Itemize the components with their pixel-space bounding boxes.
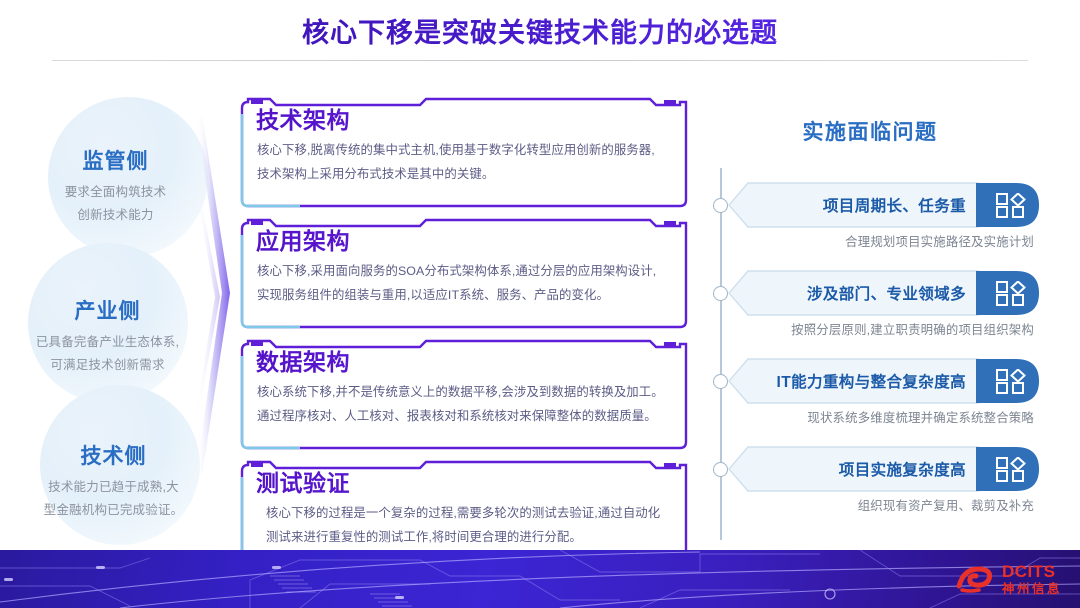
- grid-diamond-icon: [996, 457, 1030, 482]
- card-body: 核心下移,采用面向服务的SOA分布式架构体系,通过分层的应用架构设计, 实现服务…: [257, 259, 678, 307]
- timeline-pill[interactable]: 项目周期长、任务重: [728, 182, 1040, 228]
- right-panel-title: 实施面临问题: [700, 116, 1040, 146]
- left-item-desc-line: 型金融机构已完成验证。: [6, 499, 221, 522]
- timeline-dot-icon: [713, 198, 728, 213]
- left-panel-item-industry: 产业侧 已具备完备产业生态体系, 可满足技术创新需求: [0, 295, 215, 377]
- timeline-dot-icon: [713, 374, 728, 389]
- left-item-desc-line: 创新技术能力: [8, 204, 223, 227]
- timeline-pill[interactable]: 涉及部门、专业领域多: [728, 270, 1040, 316]
- card-body-line: 核心下移的过程是一个复杂的过程,需要多轮次的测试去验证,通过自动化: [266, 501, 678, 525]
- slide-header: 核心下移是突破关键技术能力的必选题: [0, 0, 1080, 62]
- left-panel-item-regulator: 监管侧 要求全面构筑技术 创新技术能力: [8, 145, 223, 227]
- left-item-heading: 监管侧: [8, 145, 223, 175]
- timeline-subtext: 现状系统多维度梳理并确定系统整合策略: [728, 408, 1038, 426]
- card-application-architecture[interactable]: 应用架构 核心下移,采用面向服务的SOA分布式架构体系,通过分层的应用架构设计,…: [240, 217, 688, 329]
- timeline-subtext: 合理规划项目实施路径及实施计划: [728, 232, 1038, 250]
- company-logo: DCITS 神州信息: [956, 558, 1062, 600]
- architecture-card-list: 技术架构 核心下移,脱离传统的集中式主机,使用基于数字化转型应用创新的服务器, …: [240, 96, 690, 540]
- card-tech-architecture[interactable]: 技术架构 核心下移,脱离传统的集中式主机,使用基于数字化转型应用创新的服务器, …: [240, 96, 688, 208]
- timeline-pill[interactable]: IT能力重构与整合复杂度高: [728, 358, 1040, 404]
- card-body-line: 测试来进行重复性的测试工作,将时间更合理的进行分配。: [266, 525, 678, 549]
- card-body-line: 技术架构上采用分布式技术是其中的关键。: [257, 162, 678, 186]
- grid-diamond-icon: [996, 193, 1030, 218]
- left-item-desc-line: 要求全面构筑技术: [8, 181, 223, 204]
- card-body-line: 核心下移,脱离传统的集中式主机,使用基于数字化转型应用创新的服务器,: [257, 138, 678, 162]
- left-item-desc: 已具备完备产业生态体系, 可满足技术创新需求: [0, 331, 215, 377]
- slide-footer: DCITS 神州信息: [0, 550, 1080, 608]
- card-title: 测试验证: [256, 469, 678, 498]
- card-body-line: 通过程序核对、人工核对、报表核对和系统核对来保障整体的数据质量。: [257, 404, 678, 428]
- page-title: 核心下移是突破关键技术能力的必选题: [0, 11, 1080, 50]
- left-item-desc-line: 已具备完备产业生态体系,: [0, 331, 215, 354]
- left-item-desc-line: 技术能力已趋于成熟,大: [6, 476, 221, 499]
- left-panel: 监管侧 要求全面构筑技术 创新技术能力 产业侧 已具备完备产业生态体系, 可满足…: [0, 95, 232, 535]
- grid-diamond-icon: [996, 369, 1030, 394]
- circuit-decoration-icon: [0, 550, 1080, 608]
- card-body: 核心下移,脱离传统的集中式主机,使用基于数字化转型应用创新的服务器, 技术架构上…: [257, 138, 678, 186]
- timeline-subtext: 组织现有资产复用、裁剪及补充: [728, 496, 1038, 514]
- timeline-pill-label: 项目周期长、任务重: [750, 182, 972, 228]
- left-item-desc: 技术能力已趋于成熟,大 型金融机构已完成验证。: [6, 476, 221, 522]
- timeline-pill-label: IT能力重构与整合复杂度高: [750, 358, 972, 404]
- timeline-axis: [720, 168, 722, 540]
- logo-cn-text: 神州信息: [1002, 583, 1062, 596]
- card-body-line: 实现服务组件的组装与重用,以适应IT系统、服务、产品的变化。: [257, 283, 678, 307]
- timeline-pill[interactable]: 项目实施复杂度高: [728, 446, 1040, 492]
- header-divider: [52, 60, 1028, 61]
- right-panel: 实施面临问题 项目周期长、任务重 合理规划项目实施路径及实施计划: [700, 100, 1080, 540]
- logo-text-block: DCITS 神州信息: [1002, 563, 1062, 596]
- timeline-dot-icon: [713, 462, 728, 477]
- card-body-line: 核心下移,采用面向服务的SOA分布式架构体系,通过分层的应用架构设计,: [257, 259, 678, 283]
- dcits-swirl-icon: [956, 562, 998, 596]
- left-item-heading: 技术侧: [6, 440, 221, 470]
- left-item-desc-line: 可满足技术创新需求: [0, 354, 215, 377]
- left-item-heading: 产业侧: [0, 295, 215, 325]
- card-body-line: 核心系统下移,并不是传统意义上的数据平移,会涉及到数据的转换及加工。: [257, 380, 678, 404]
- left-panel-item-technology: 技术侧 技术能力已趋于成熟,大 型金融机构已完成验证。: [6, 440, 221, 522]
- timeline-dot-icon: [713, 286, 728, 301]
- timeline-pill-label: 项目实施复杂度高: [750, 446, 972, 492]
- slide-root: 核心下移是突破关键技术能力的必选题 监管侧 要求全面构筑技术 创新技术能力 产业…: [0, 0, 1080, 608]
- grid-diamond-icon: [996, 281, 1030, 306]
- timeline-pill-label: 涉及部门、专业领域多: [750, 270, 972, 316]
- timeline-subtext: 按照分层原则,建立职责明确的项目组织架构: [728, 320, 1038, 338]
- card-body: 核心系统下移,并不是传统意义上的数据平移,会涉及到数据的转换及加工。 通过程序核…: [257, 380, 678, 428]
- card-title: 数据架构: [256, 348, 678, 377]
- card-body: 核心下移的过程是一个复杂的过程,需要多轮次的测试去验证,通过自动化 测试来进行重…: [266, 501, 678, 549]
- left-item-desc: 要求全面构筑技术 创新技术能力: [8, 181, 223, 227]
- logo-en-text: DCITS: [1002, 563, 1062, 580]
- card-data-architecture[interactable]: 数据架构 核心系统下移,并不是传统意义上的数据平移,会涉及到数据的转换及加工。 …: [240, 338, 688, 450]
- card-title: 技术架构: [256, 106, 678, 135]
- card-title: 应用架构: [256, 227, 678, 256]
